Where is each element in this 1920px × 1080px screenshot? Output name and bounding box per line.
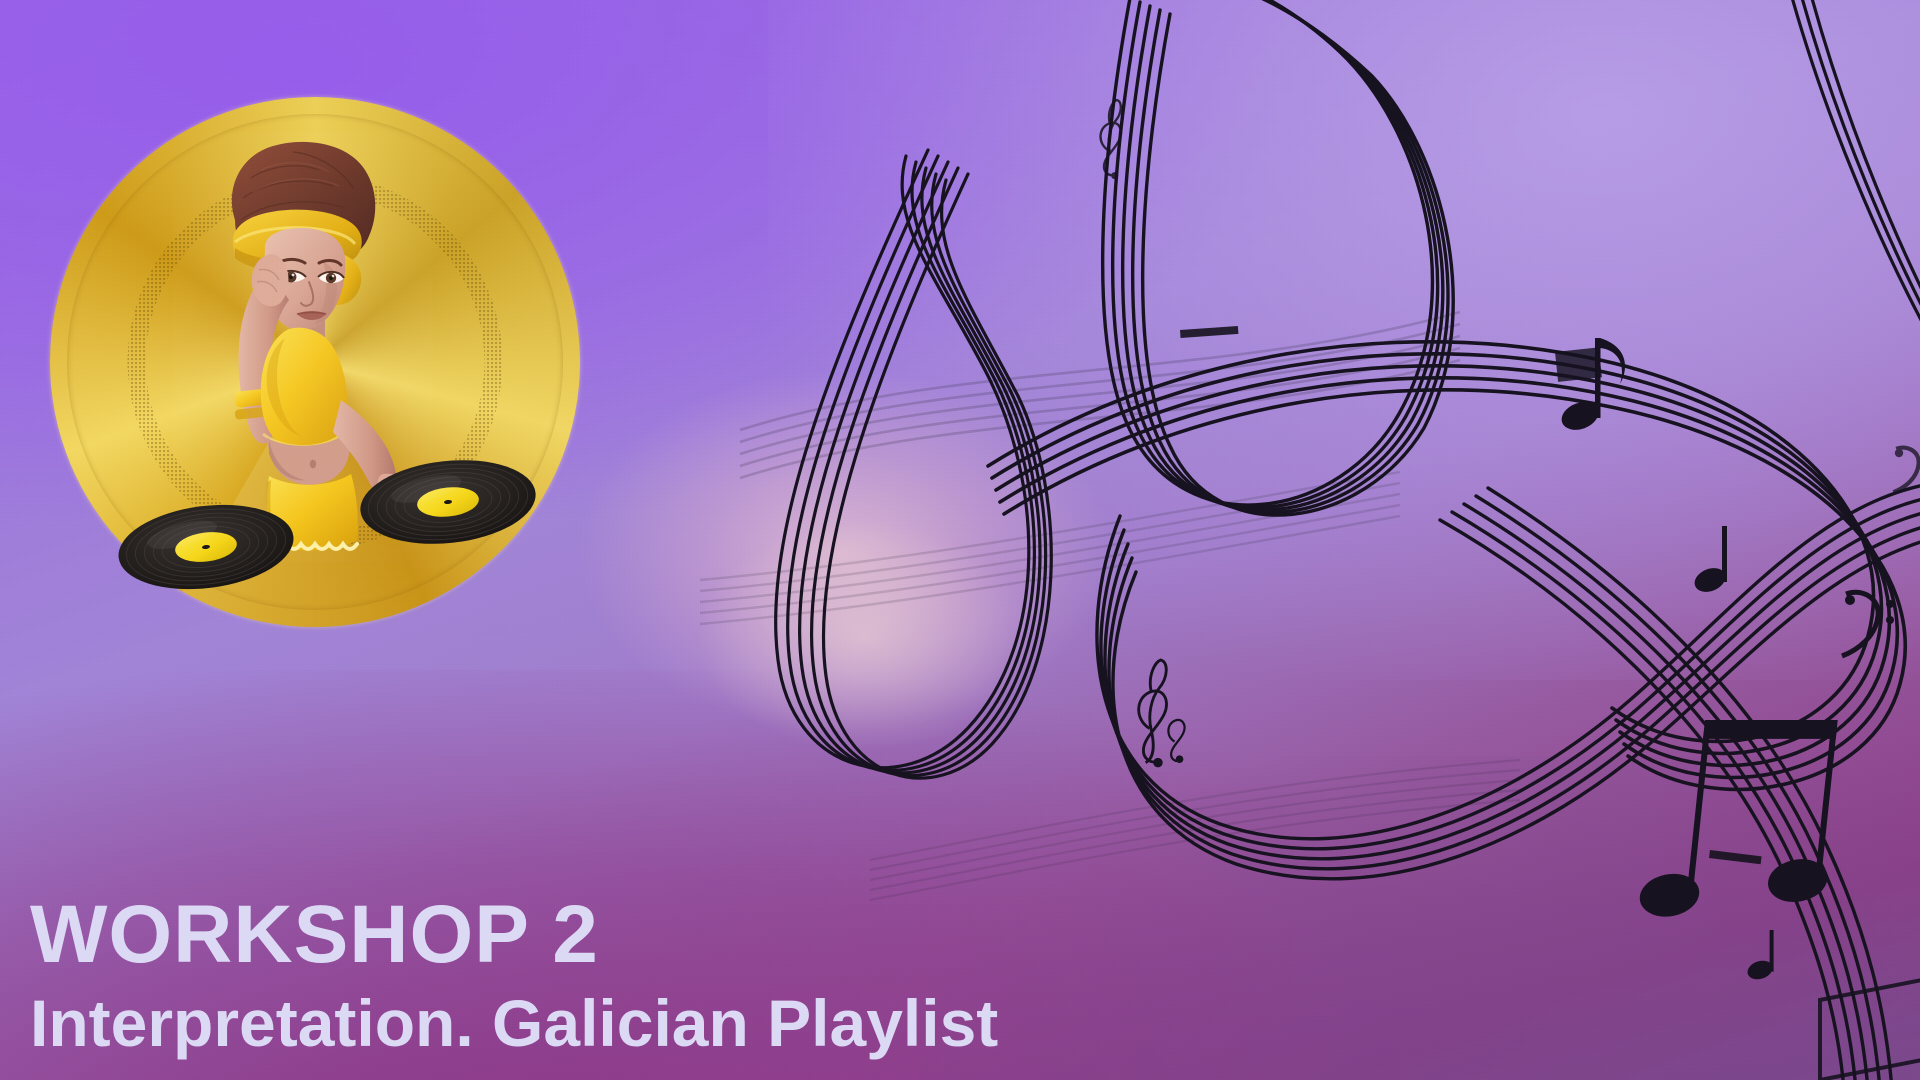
vinyl-record-left: [114, 496, 299, 599]
vinyl-records: [0, 12, 638, 692]
background-peach-glow-inner: [691, 518, 1037, 756]
background-plum-glow: [922, 756, 1920, 1080]
vinyl-record-right: [356, 452, 540, 552]
dj-halo-artwork: [0, 12, 638, 692]
banner-title: WORKSHOP 2: [30, 894, 998, 976]
title-block: WORKSHOP 2 Interpretation. Galician Play…: [30, 894, 998, 1056]
banner-subtitle: Interpretation. Galician Playlist: [30, 990, 998, 1056]
banner-canvas: WORKSHOP 2 Interpretation. Galician Play…: [0, 0, 1920, 1080]
